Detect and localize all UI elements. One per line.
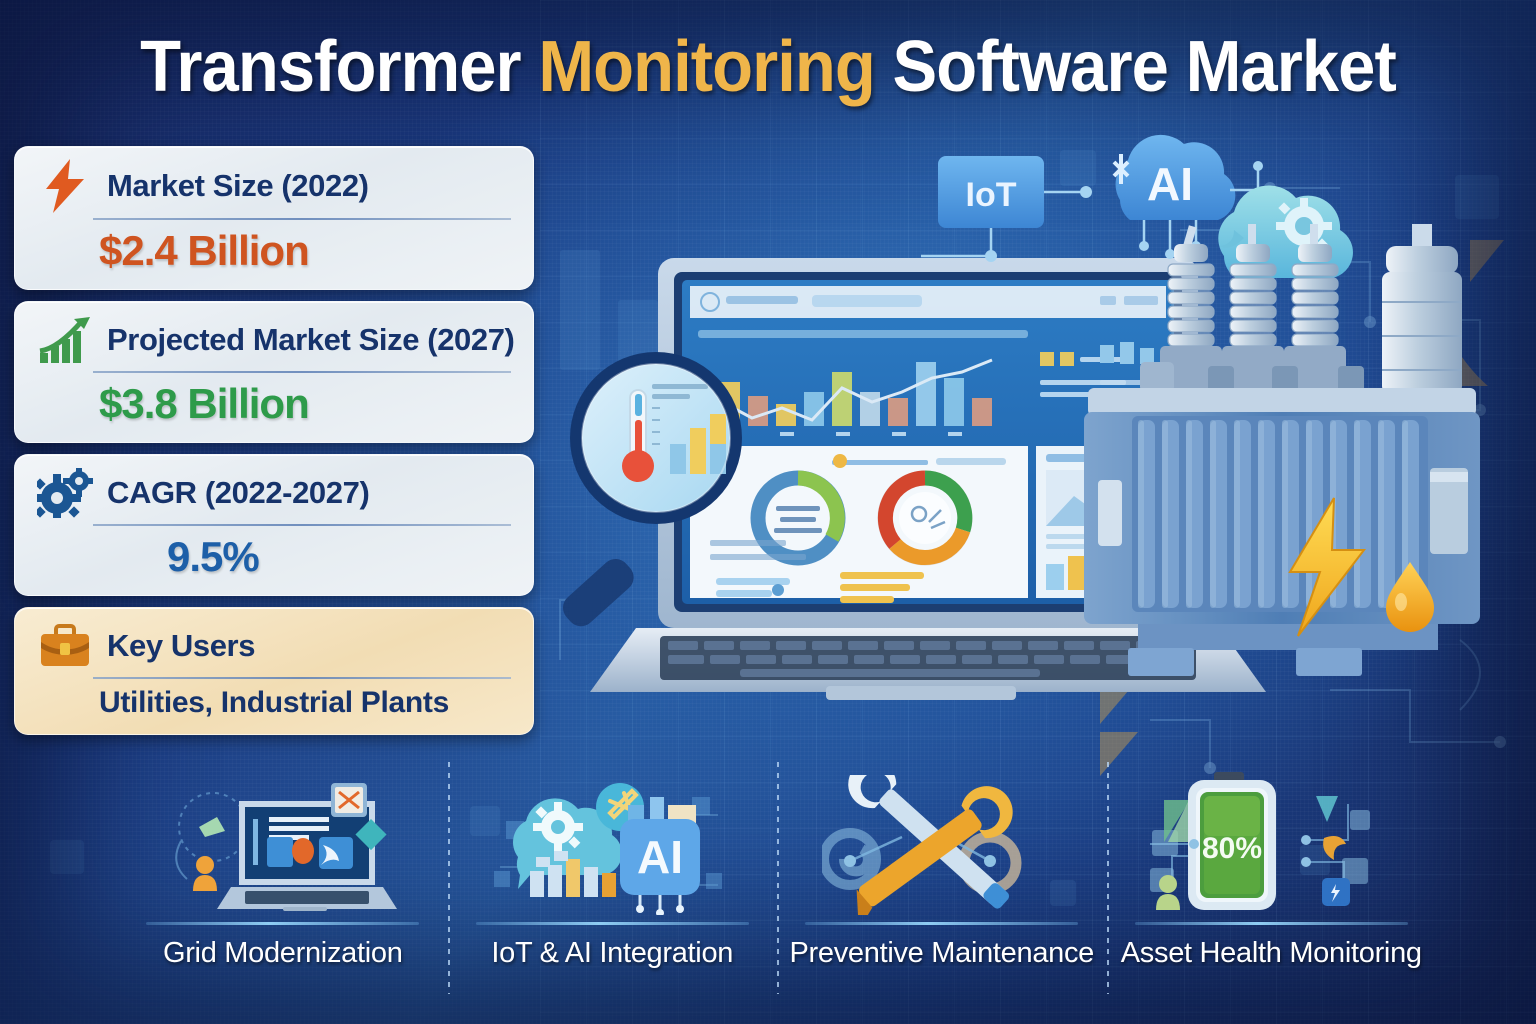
- feature-strip: Grid Modernization: [118, 770, 1436, 1010]
- feature-label: IoT & AI Integration: [491, 937, 733, 970]
- card-title: Market Size (2022): [107, 168, 369, 204]
- card-divider: [93, 677, 511, 679]
- feature-divider-line: [1135, 922, 1408, 925]
- title-highlight: Monitoring: [538, 27, 875, 107]
- gears-icon: [37, 468, 93, 518]
- feature-divider-line: [476, 922, 749, 925]
- feature-label: Grid Modernization: [163, 937, 403, 970]
- card-title: Projected Market Size (2027): [107, 322, 514, 358]
- svg-text:AI: AI: [637, 831, 683, 883]
- feature-divider-line: [146, 922, 419, 925]
- cloud-ai-chip-icon: AI: [492, 770, 732, 920]
- feature-iot-ai-integration[interactable]: AI IoT & AI Integration: [448, 770, 778, 1010]
- feature-preventive-maintenance[interactable]: Preventive Maintenance: [777, 770, 1107, 1010]
- iot-badge-text: IoT: [966, 176, 1017, 214]
- stat-card-market-size-2022[interactable]: Market Size (2022) $2.4 Billion: [14, 146, 534, 290]
- feature-asset-health-monitoring[interactable]: 80% Asset Health Monitoring: [1107, 770, 1437, 1010]
- crossed-wrenches-icon: [822, 770, 1062, 920]
- card-divider: [93, 524, 511, 526]
- feature-grid-modernization[interactable]: Grid Modernization: [118, 770, 448, 1010]
- card-header: CAGR (2022-2027): [37, 467, 511, 519]
- feature-label: Preventive Maintenance: [789, 937, 1094, 970]
- ai-badge-text: AI: [1147, 158, 1193, 210]
- card-title: Key Users: [107, 628, 255, 664]
- growth-bar-chart-icon: [37, 315, 93, 365]
- title-part-2: Software Market: [875, 27, 1396, 107]
- card-value: 9.5%: [37, 533, 511, 581]
- stat-card-key-users[interactable]: Key Users Utilities, Industrial Plants: [14, 607, 534, 735]
- card-divider: [93, 218, 511, 220]
- stat-card-cagr[interactable]: CAGR (2022-2027) 9.5%: [14, 454, 534, 596]
- card-value: Utilities, Industrial Plants: [37, 686, 511, 720]
- card-header: Market Size (2022): [37, 159, 511, 213]
- feature-divider-line: [805, 922, 1078, 925]
- hero-illustration: IoT AI: [540, 120, 1536, 770]
- card-header: Projected Market Size (2027): [37, 314, 511, 366]
- page-title: Transformer Monitoring Software Market: [54, 26, 1482, 108]
- card-value: $2.4 Billion: [37, 227, 511, 275]
- feature-label: Asset Health Monitoring: [1121, 937, 1422, 970]
- stat-card-projected-market-size-2027[interactable]: Projected Market Size (2027) $3.8 Billio…: [14, 301, 534, 443]
- stat-cards: Market Size (2022) $2.4 Billion Projecte…: [14, 146, 534, 746]
- battery-percent-text: 80%: [1202, 832, 1262, 865]
- briefcase-icon: [37, 624, 93, 668]
- title-part-1: Transformer: [140, 27, 538, 107]
- card-value: $3.8 Billion: [37, 380, 511, 428]
- battery-health-gauge-icon: 80%: [1146, 770, 1396, 920]
- lightning-bolt-icon: [37, 159, 93, 213]
- card-header: Key Users: [37, 620, 511, 672]
- card-title: CAGR (2022-2027): [107, 475, 369, 511]
- card-divider: [93, 371, 511, 373]
- laptop-dashboard-icon: [153, 770, 413, 920]
